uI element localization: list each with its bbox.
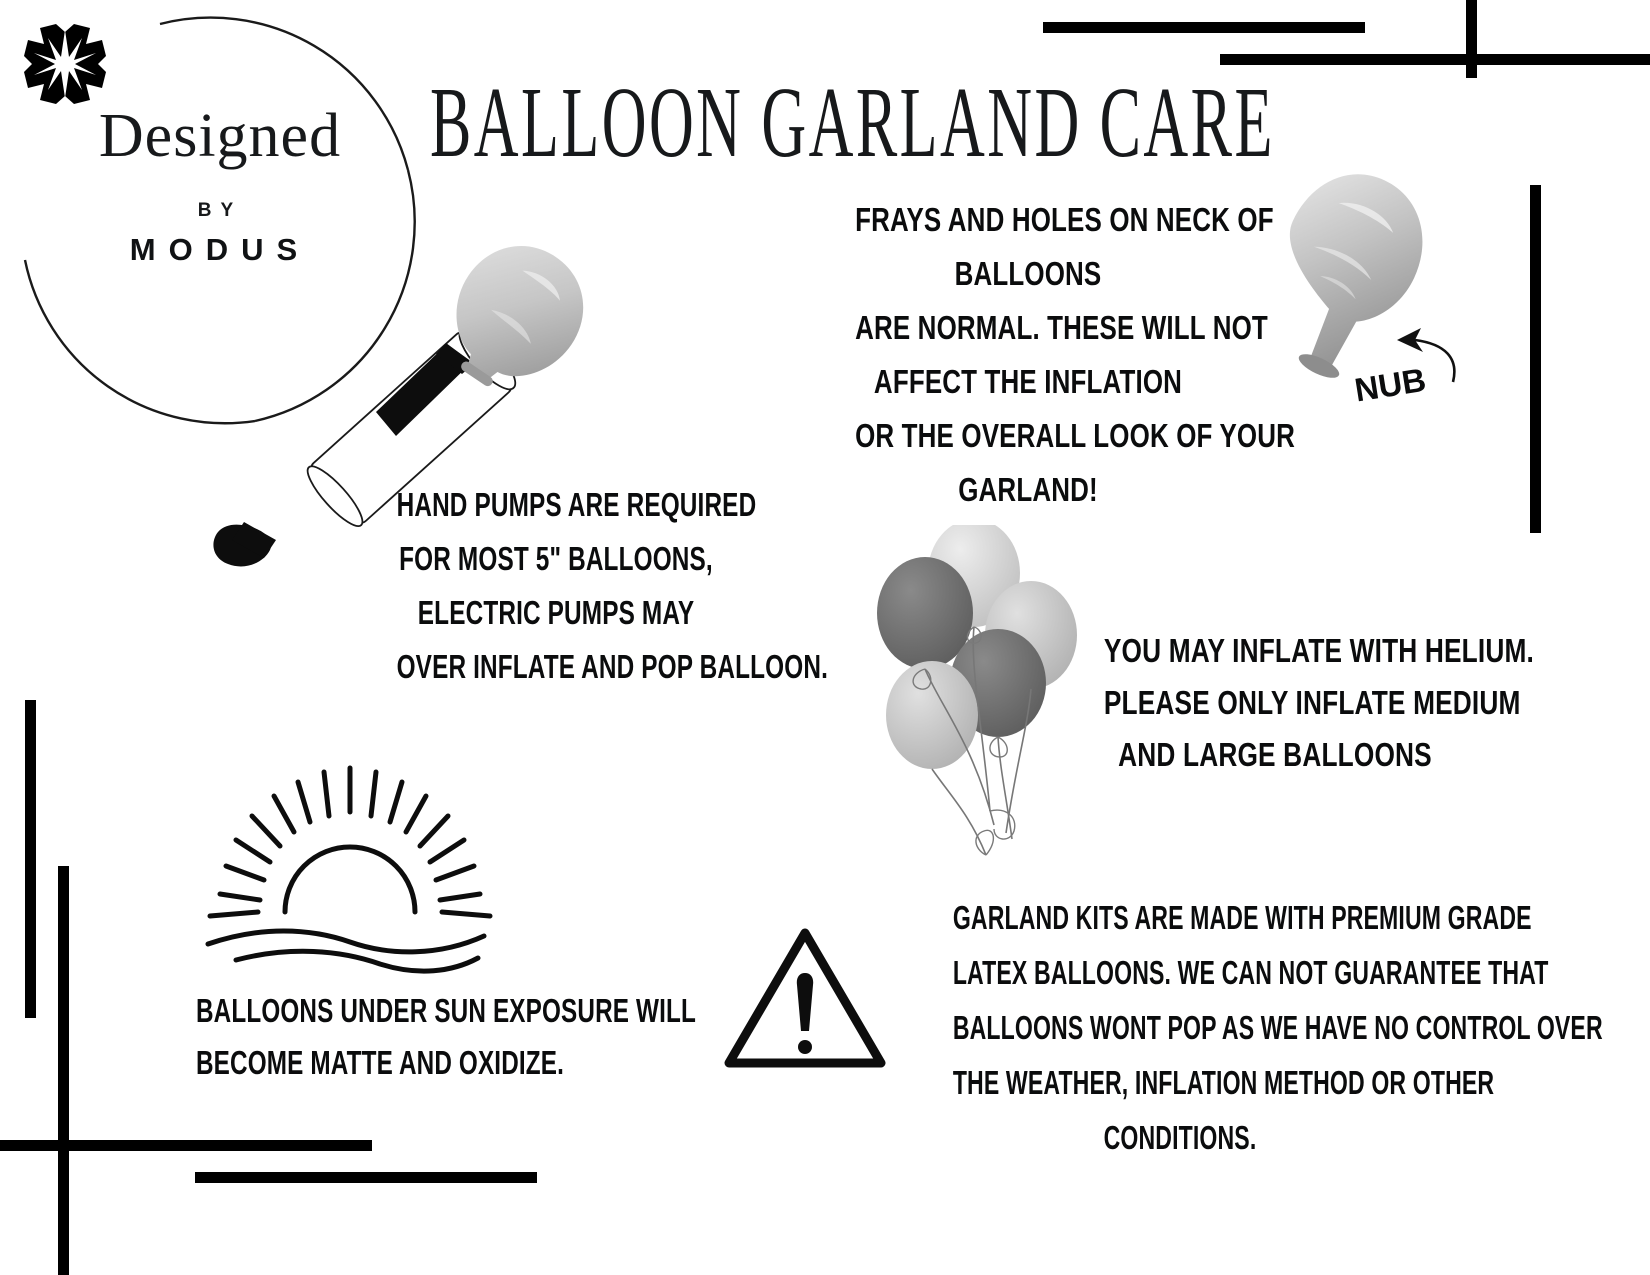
sunrise-over-water-icon — [190, 760, 510, 980]
poster-canvas: Designed BY MODUS BALLOON GARLAND CARE — [0, 0, 1650, 1275]
text-line: BALLOONS — [855, 247, 1201, 301]
bar-top-right-2 — [1220, 54, 1650, 65]
bar-bottom-left-vertical-1 — [25, 700, 36, 1018]
bar-bottom-left-vertical-2 — [58, 866, 69, 1275]
text-line: OR THE OVERALL LOOK OF YOUR — [855, 409, 1201, 463]
bar-bottom-left-horizontal-2 — [195, 1172, 537, 1183]
text-line: YOU MAY INFLATE WITH HELIUM. — [1104, 625, 1446, 677]
text-line: LATEX BALLOONS. WE CAN NOT GUARANTEE THA… — [953, 945, 1407, 1000]
bar-top-right-vertical-1 — [1466, 0, 1477, 78]
text-line: FOR MOST 5" BALLOONS, — [397, 532, 716, 586]
sun-text-block: BALLOONS UNDER SUN EXPOSURE WILLBECOME M… — [196, 985, 564, 1089]
text-line: BECOME MATTE AND OXIDIZE. — [196, 1037, 564, 1089]
text-line: OVER INFLATE AND POP BALLOON. — [397, 640, 716, 694]
text-line: CONDITIONS. — [953, 1110, 1407, 1165]
bar-top-right-1 — [1043, 22, 1365, 33]
text-line: AFFECT THE INFLATION — [855, 355, 1201, 409]
pump-text-block: HAND PUMPS ARE REQUIREDFOR MOST 5" BALLO… — [397, 478, 716, 694]
text-line: GARLAND! — [855, 463, 1201, 517]
helium-text-block: YOU MAY INFLATE WITH HELIUM.PLEASE ONLY … — [1104, 625, 1446, 781]
balloon-bunch-icon — [870, 525, 1110, 865]
warning-text-block: GARLAND KITS ARE MADE WITH PREMIUM GRADE… — [953, 890, 1407, 1165]
text-line: GARLAND KITS ARE MADE WITH PREMIUM GRADE — [953, 890, 1407, 945]
text-line: ARE NORMAL. THESE WILL NOT — [855, 301, 1201, 355]
page-title: BALLOON GARLAND CARE — [430, 66, 1132, 181]
frays-text-block: FRAYS AND HOLES ON NECK OFBALLOONSARE NO… — [855, 193, 1201, 517]
text-line: AND LARGE BALLOONS — [1104, 729, 1446, 781]
warning-triangle-icon — [715, 915, 895, 1085]
text-line: ELECTRIC PUMPS MAY — [397, 586, 716, 640]
text-line: BALLOONS UNDER SUN EXPOSURE WILL — [196, 985, 564, 1037]
text-line: PLEASE ONLY INFLATE MEDIUM — [1104, 677, 1446, 729]
logo-by-text: BY — [10, 200, 430, 222]
text-line: BALLOONS WONT POP AS WE HAVE NO CONTROL … — [953, 1000, 1407, 1055]
text-line: HAND PUMPS ARE REQUIRED — [397, 478, 716, 532]
text-line: FRAYS AND HOLES ON NECK OF — [855, 193, 1201, 247]
bar-right-vertical-2 — [1530, 185, 1541, 533]
text-line: THE WEATHER, INFLATION METHOD OR OTHER — [953, 1055, 1407, 1110]
starburst-emblem-icon — [10, 10, 120, 115]
bar-bottom-left-horizontal-1 — [0, 1140, 372, 1151]
